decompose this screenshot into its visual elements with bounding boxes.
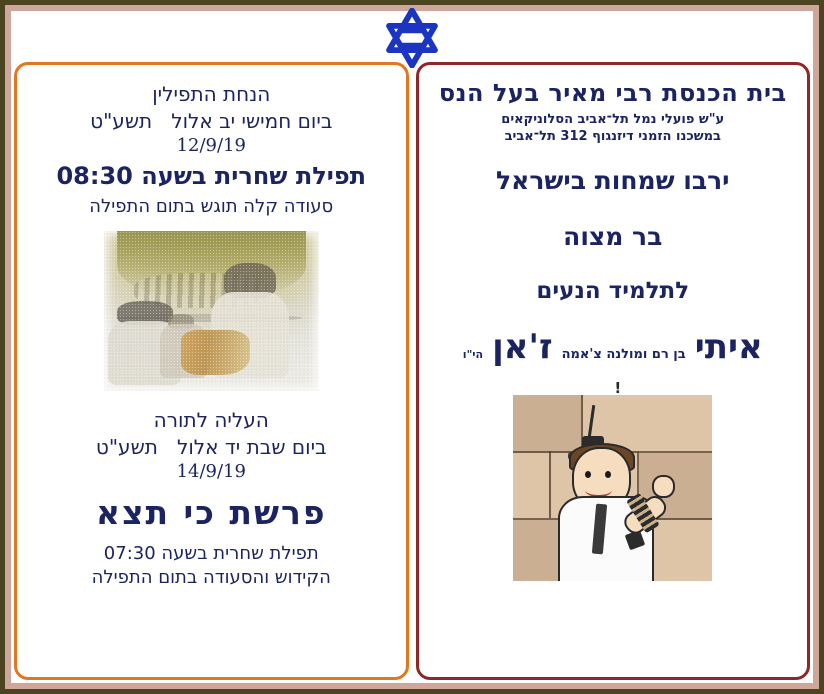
blessing-line: ירבו שמחות בישראל: [496, 166, 729, 196]
synagogue-watercolor-image: [104, 231, 319, 391]
tefillin-gregorian-date: 12/9/19: [177, 135, 246, 156]
celebrant-family-name: ז'אן: [492, 327, 552, 367]
paper-grain-overlay: [104, 231, 319, 391]
star-of-david-icon: [380, 8, 444, 68]
synagogue-title: בית הכנסת רבי מאיר בעל הנס: [439, 79, 787, 107]
panels-container: הנחת התפילין ביום חמישי יב אלול תשע"ט 12…: [14, 62, 810, 680]
for-student-line: לתלמיד הנעים: [536, 278, 689, 305]
boy-eye-right: [605, 471, 611, 478]
left-panel-service-details: הנחת התפילין ביום חמישי יב אלול תשע"ט 12…: [14, 62, 409, 680]
tefillin-hebrew-date: ביום חמישי יב אלול תשע"ט: [90, 110, 332, 134]
tefillin-heading: הנחת התפילין: [152, 83, 270, 107]
boy-hand: [652, 475, 675, 498]
aliyah-heading: העליה לתורה: [154, 409, 269, 433]
celebrant-first-name: איתי: [695, 327, 763, 367]
synagogue-address: במשכנו הזמני דיזנגוף 312 תל־אביב: [505, 129, 721, 144]
tefillin-service-time: תפילת שחרית בשעה 08:30: [56, 162, 366, 190]
aliyah-kiddush-note: הקידוש והסעודה בתום התפילה: [92, 567, 331, 588]
synagogue-subtitle-1: ע"ש פועלי נמל תל־אביב הסלוניקאים: [501, 112, 724, 127]
invitation-card: הנחת התפילין ביום חמישי יב אלול תשע"ט 12…: [0, 0, 824, 694]
celebrant-parents: בן רם ומולנה צ'אמה: [562, 347, 686, 362]
aliyah-hebrew-date: ביום שבת יד אלול תשע"ט: [96, 436, 327, 460]
aliyah-service-time: תפילת שחרית בשעה 07:30: [104, 543, 319, 564]
celebrant-name-row: איתי בן רם ומולנה צ'אמה ז'אן הי"ו: [419, 327, 808, 367]
right-panel-invitation: בית הכנסת רבי מאיר בעל הנס ע"ש פועלי נמל…: [416, 62, 811, 680]
aliyah-gregorian-date: 14/9/19: [177, 461, 246, 482]
brick-line-v3: [549, 451, 551, 518]
celebrant-honorific: הי"ו: [463, 349, 483, 362]
tefillin-meal-note: סעודה קלה תוגש בתום התפילה: [89, 196, 333, 217]
boy-tefillin-kotel-image: !: [505, 381, 720, 581]
parsha-name: פרשת כי תצא: [96, 494, 327, 533]
boy-smile: [585, 483, 612, 497]
occasion-bar-mitzvah: בר מצוה: [563, 222, 662, 252]
boy-eye-left: [585, 471, 591, 478]
boy-figure: [553, 433, 678, 581]
